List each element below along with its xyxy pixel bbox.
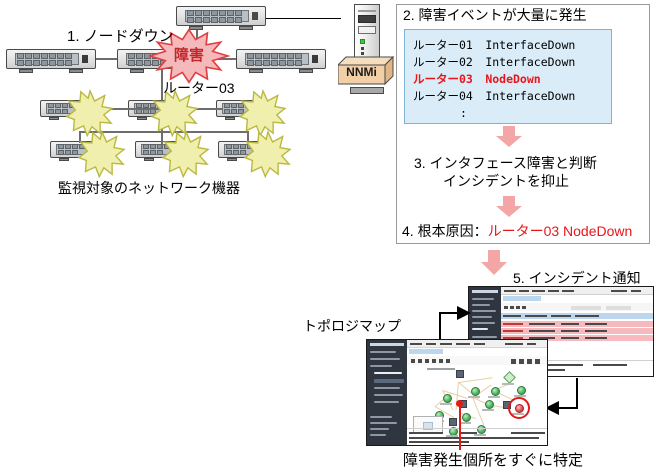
failure-pointer-line [459,406,461,450]
link-network-to-nnmi [266,18,341,19]
event-list-box: ルーター01 InterfaceDown ルーター02 InterfaceDow… [404,29,612,124]
topology-menu-item[interactable] [505,343,523,345]
topology-sidebar-item[interactable] [370,416,392,418]
topology-app-title [370,343,404,346]
event-node: ルーター03 [413,72,473,86]
incident-row-text [585,330,607,332]
event-node: ルーター01 [413,38,473,52]
incident-row-text [503,323,523,325]
network-caption: 監視対象のネットワーク機器 [58,180,240,197]
incident-toolbar-icon[interactable] [510,306,514,309]
topology-sidebar-item[interactable] [370,351,396,353]
incident-toolbar-icon[interactable] [522,306,526,309]
incident-sidebar-item[interactable] [472,322,495,324]
warning-burst-5 [158,131,214,177]
incident-sidebar-item[interactable] [472,304,490,306]
incident-row-text [529,323,555,325]
incident-filter-field[interactable] [606,306,631,310]
flow-arrow-3 [480,250,508,276]
topology-sidebar-item[interactable] [370,434,386,436]
event-row-ellipsis: : [460,104,467,122]
topology-menu-item[interactable] [456,343,470,345]
map-node-switch[interactable] [449,418,457,426]
topology-sidebar-item[interactable] [374,387,400,389]
topology-menu-item[interactable] [426,343,436,345]
warning-burst-3 [235,90,291,136]
topology-map-label: トポロジマップ [303,318,401,335]
map-node-label [482,409,494,411]
incident-menu-item[interactable] [562,290,574,292]
incident-sidebar-item[interactable] [472,310,496,312]
incident-column-header [551,315,571,317]
topology-sidebar-item[interactable] [370,428,389,430]
event-type: InterfaceDown [485,38,575,52]
router03-label: ルーター03 [163,80,235,97]
server-power-led [360,39,365,44]
incident-filter-field[interactable] [571,306,601,310]
incident-menu-item[interactable] [631,290,641,292]
topology-sidebar-item[interactable] [370,358,400,360]
map-node-switch[interactable] [456,370,464,378]
step4-row: 4. 根本原因：ルーター03 NodeDown [402,223,632,241]
topology-main-area [407,340,547,445]
topology-sidebar[interactable] [367,340,407,445]
topology-map-screenshot[interactable] [366,339,548,446]
step3-line1: 3. インタフェース障害と判断 [414,155,597,172]
incident-menu-item[interactable] [532,290,545,292]
topology-status-text [409,432,443,434]
incident-menu-item[interactable] [519,290,529,292]
network-device-right [236,49,326,75]
network-device-left [6,49,96,75]
map-node[interactable] [471,387,480,396]
incident-column-header [575,315,599,317]
event-node: ルーター02 [413,55,473,69]
event-row-highlighted: ルーター03 NodeDown [413,70,541,88]
event-type: NodeDown [485,72,540,86]
topology-toolbar-icon[interactable] [439,359,443,363]
topology-view-title [409,349,443,354]
incident-sidebar-item[interactable] [472,336,497,338]
topology-menu-item[interactable] [474,343,485,345]
server-base [350,87,384,94]
topology-sidebar-item-selected[interactable] [374,372,402,374]
map-node-label [488,396,500,398]
incident-sidebar-item[interactable] [472,316,492,318]
step4-prefix: 4. 根本原因： [402,223,488,239]
topology-map-control[interactable] [519,359,524,364]
incident-app-title [472,290,498,293]
arrow-to-topology-horizontal [558,407,578,409]
map-node-label [468,396,480,398]
topology-toolbar-icon[interactable] [432,359,436,363]
server-status-led-2 [361,52,364,55]
step1-label: 1. ノードダウン [67,28,174,46]
incident-toolbar-icon[interactable] [504,306,508,309]
step2-label: 2. 障害イベントが大量に発生 [403,7,587,24]
incident-menu-item[interactable] [504,290,516,292]
topology-sidebar-item-active[interactable] [374,379,404,383]
topology-sidebar-item[interactable] [370,365,392,367]
step4-cause: ルーター03 NodeDown [488,223,633,239]
arrow-to-topology-vertical [576,378,578,409]
incident-column-header [503,315,521,317]
incident-status-text [593,364,627,366]
incident-row-text [529,330,555,332]
warning-burst-4 [74,131,130,177]
topology-sidebar-item[interactable] [374,401,399,403]
incident-row-text [561,330,579,332]
incident-toolbar-icon[interactable] [516,306,520,309]
server-status-led [361,47,364,50]
event-node: ルーター04 [413,89,473,103]
topology-menu-item[interactable] [440,343,452,345]
event-type: InterfaceDown [485,55,575,69]
topology-menu-item[interactable] [410,343,422,345]
server-drive-bay-2 [358,26,376,34]
topology-breadcrumb [427,368,455,370]
incident-row-text [585,337,607,339]
topology-toolbar-icon[interactable] [425,359,429,363]
incident-menu-item[interactable] [611,290,627,292]
flow-arrow-2 [495,196,523,218]
map-node[interactable] [491,387,500,396]
incident-row-text [561,323,579,325]
event-type: : [460,106,467,120]
topology-status-divider [407,428,547,429]
topology-menu-item[interactable] [527,343,536,345]
topology-status-text [459,432,477,434]
incident-menu-item[interactable] [548,290,559,292]
map-node[interactable] [462,413,471,422]
server-vent [358,10,376,12]
incident-status-text [545,364,583,366]
incident-view-title [503,296,541,301]
map-node-label [440,403,452,405]
map-node[interactable] [477,425,486,434]
map-edge [459,377,493,383]
topology-map-control[interactable] [535,359,540,364]
incident-sidebar-item[interactable] [472,298,494,300]
map-node[interactable] [517,386,526,395]
step3-line2: インシデントを抑止 [443,173,569,190]
warning-burst-6 [240,131,296,177]
topology-status-text [409,437,539,439]
map-node-label [502,383,514,385]
map-node[interactable] [485,400,494,409]
failure-marker-circle [508,397,530,419]
server-drive-bay-1 [358,15,376,23]
flow-arrow-1 [495,126,523,148]
topology-toolbar-icon[interactable] [411,359,415,363]
nnmi-server: NNMi [338,4,394,96]
topology-map-control[interactable] [527,359,532,364]
map-node-label [474,434,486,436]
link-left-to-center [96,58,117,60]
warning-burst-1 [62,90,118,136]
event-row: ルーター02 InterfaceDown [413,53,575,71]
event-row: ルーター01 InterfaceDown [413,36,575,54]
incident-row-text [503,330,523,332]
topology-toolbar-icon[interactable] [418,359,422,363]
incident-column-header [525,315,547,317]
topology-sidebar-item[interactable] [370,422,397,424]
topology-sidebar-item[interactable] [374,394,403,396]
conclusion-label: 障害発生個所をすぐに特定 [403,452,583,470]
arrow-to-incident-horizontal [439,312,459,314]
incident-sidebar-item-selected[interactable] [472,328,488,330]
map-node-group[interactable] [503,371,516,384]
incident-row-text [561,337,579,339]
topology-status-text [511,432,545,434]
map-node[interactable] [443,394,452,403]
step5-label: 5. インシデント通知 [513,270,641,287]
topology-map-control[interactable] [511,359,516,364]
arrow-to-incident-head [457,306,471,320]
event-type: InterfaceDown [485,89,575,103]
incident-row-text [585,323,607,325]
topology-toolbar-icon[interactable] [446,359,450,363]
event-row: ルーター04 InterfaceDown [413,87,575,105]
warning-burst-2 [147,90,203,136]
nnmi-label: NNMi [338,65,385,79]
